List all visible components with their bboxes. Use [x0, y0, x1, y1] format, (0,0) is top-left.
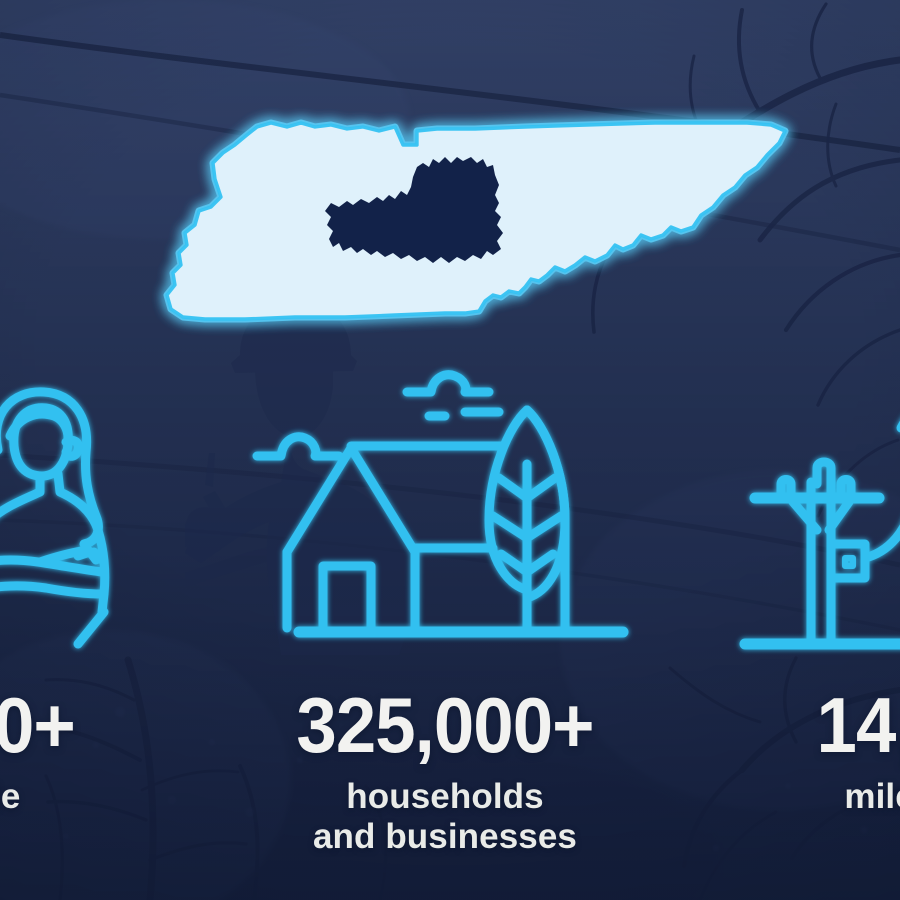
cloud-icon-small — [257, 437, 339, 456]
stat-people-label: ple — [0, 777, 160, 818]
stat-households: 325,000+ households and businesses — [250, 688, 640, 858]
stat-miles-label: miles o — [740, 777, 900, 818]
stat-people: 000+ ple — [0, 688, 160, 817]
tennessee-map-svg — [95, 115, 815, 330]
infographic-slide: 000+ ple 325,000+ households and busines… — [0, 0, 900, 900]
stat-miles: 14,00 miles o — [740, 688, 900, 817]
house-icon — [255, 370, 635, 660]
stat-miles-number: 14,00 — [752, 688, 900, 763]
stat-households-label: households and businesses — [250, 777, 640, 858]
tennessee-map — [95, 115, 815, 330]
stats-row: 000+ ple 325,000+ households and busines… — [0, 688, 900, 900]
icon-row — [0, 370, 900, 660]
stat-people-number: 000+ — [0, 688, 148, 763]
utility-pole-icon — [745, 382, 900, 660]
person-icon — [0, 380, 147, 660]
cloud-icon — [407, 375, 499, 416]
stat-households-number: 325,000+ — [264, 688, 627, 763]
